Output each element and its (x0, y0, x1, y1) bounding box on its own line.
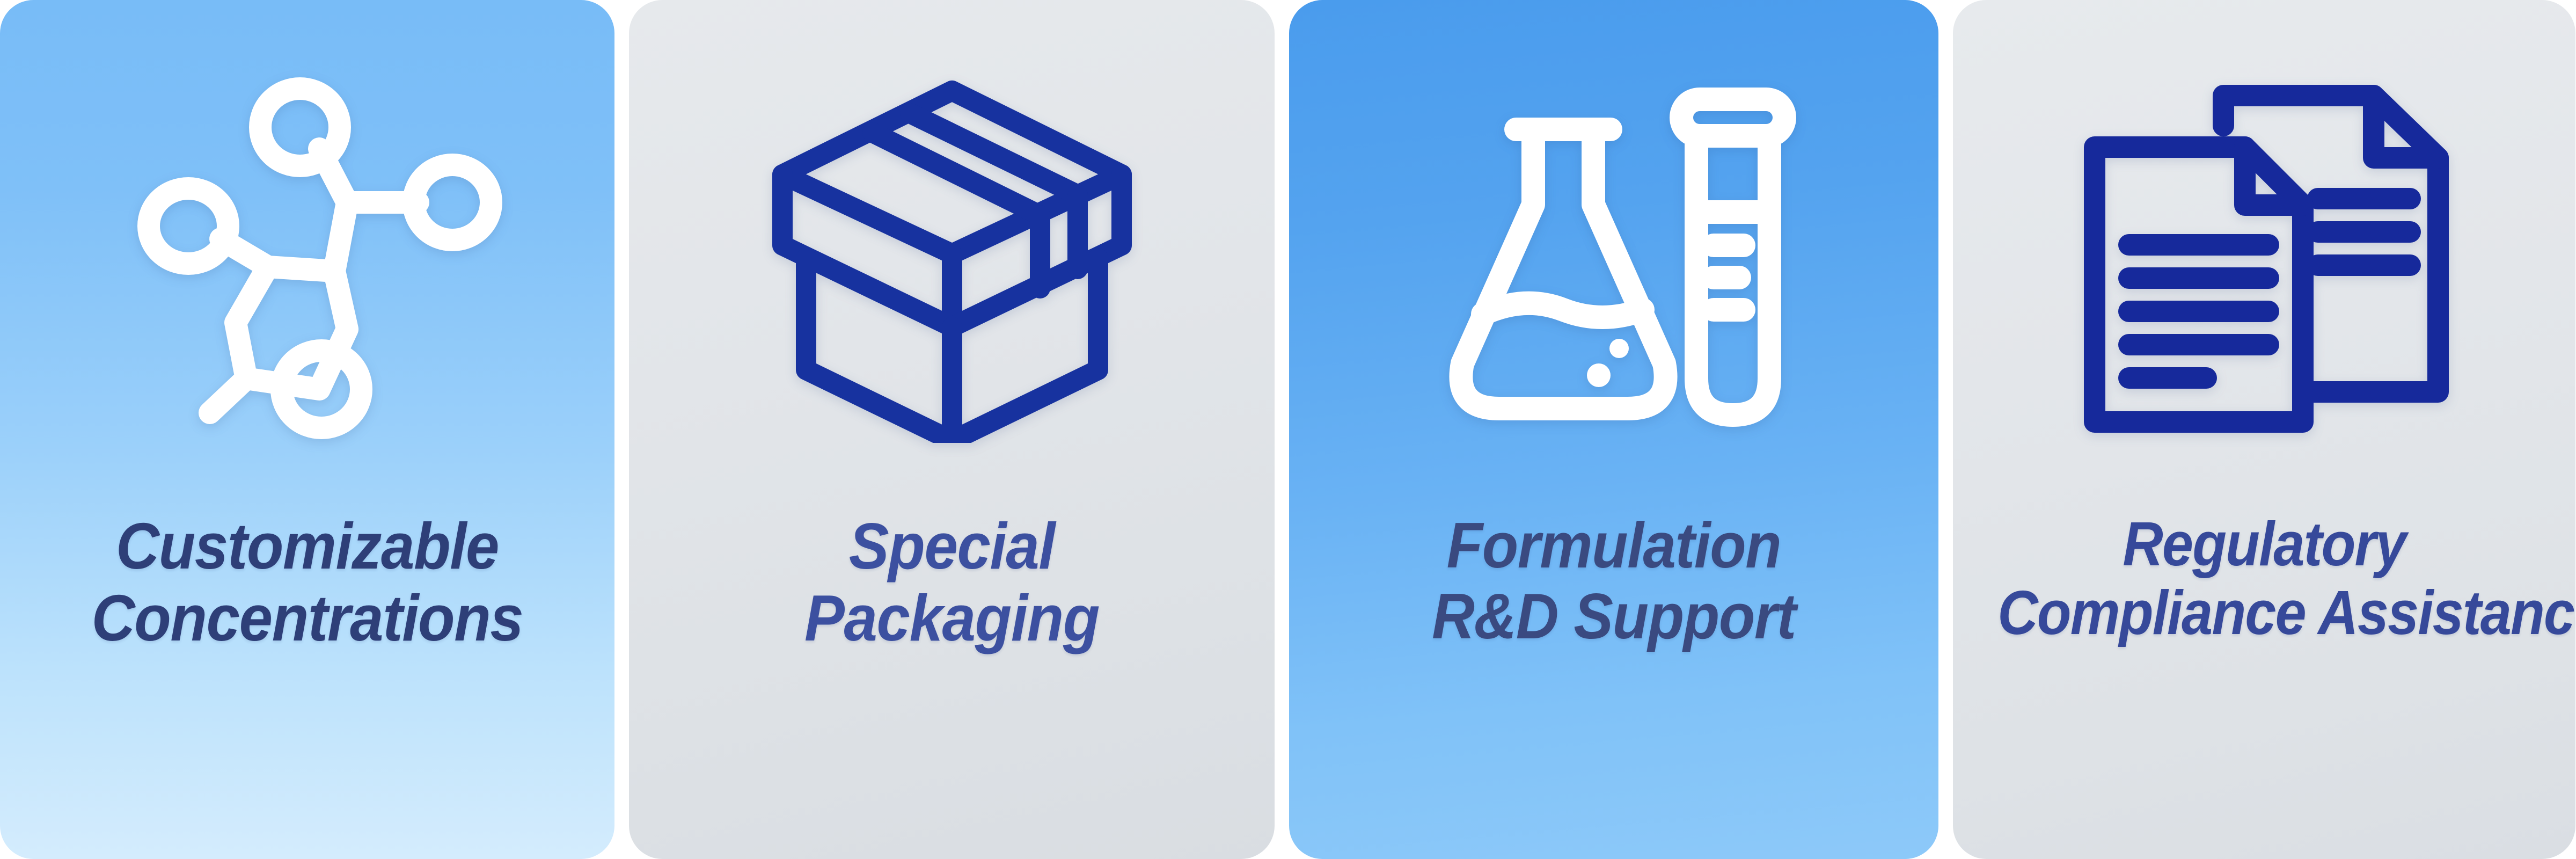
flask-and-test-tube-icon (1426, 67, 1802, 443)
feature-card-special-packaging[interactable]: Special Packaging (629, 0, 1275, 859)
card-title-customizable-concentrations: Customizable Concentrations (25, 510, 590, 654)
feature-cards-row: Customizable Concentrations (0, 0, 2576, 859)
package-box-icon-container (629, 0, 1275, 510)
card-title-line-2: R&D Support (1329, 581, 1899, 652)
molecule-icon-container (0, 0, 614, 510)
card-title-regulatory-compliance-assistance: Regulatory Compliance Assistance (1984, 510, 2544, 647)
card-title-line-2: Compliance Assistance (1997, 579, 2531, 647)
card-title-line-1: Regulatory (1997, 510, 2531, 579)
molecule-icon (109, 67, 506, 443)
package-box-icon (759, 67, 1145, 443)
card-title-formulation-rd-support: Formulation R&D Support (1315, 510, 1912, 652)
card-title-line-2: Concentrations (39, 582, 576, 654)
feature-card-customizable-concentrations[interactable]: Customizable Concentrations (0, 0, 614, 859)
card-title-line-1: Special (669, 510, 1235, 582)
feature-card-formulation-rd-support[interactable]: Formulation R&D Support (1289, 0, 1938, 859)
card-title-line-2: Packaging (669, 582, 1235, 654)
card-title-special-packaging: Special Packaging (655, 510, 1249, 654)
documents-icon (2060, 70, 2468, 440)
feature-card-regulatory-compliance-assistance[interactable]: Regulatory Compliance Assistance (1953, 0, 2575, 859)
card-title-line-1: Formulation (1329, 510, 1899, 581)
documents-icon-container (1953, 0, 2575, 510)
flask-and-test-tube-icon-container (1289, 0, 1938, 510)
card-title-line-1: Customizable (39, 510, 576, 582)
